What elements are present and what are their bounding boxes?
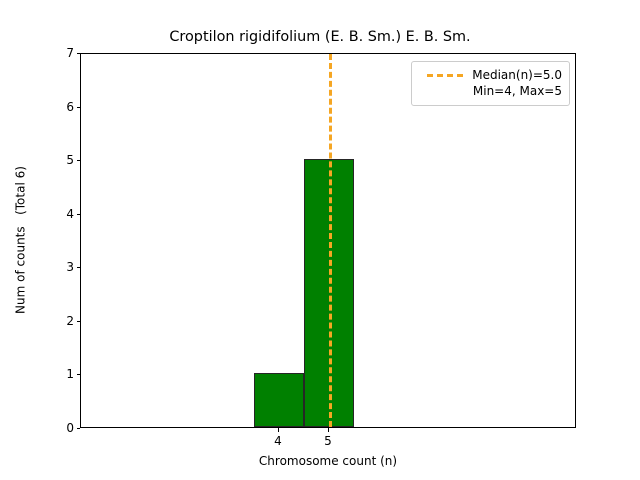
x-tick-mark-5 [328,428,329,432]
x-tick-label-4: 4 [274,434,282,448]
chart-legend: Median(n)=5.0 Min=4, Max=5 [411,61,570,106]
y-tick-label-4: 4 [66,208,74,220]
y-axis-label: Num of counts (Total 6) [14,53,28,428]
legend-entry-median: Median(n)=5.0 [419,67,562,83]
dashed-line-icon [427,74,463,77]
y-tick-label-7: 7 [66,47,74,59]
y-tick-label-1: 1 [66,368,74,380]
y-tick-label-6: 6 [66,101,74,113]
y-tick-label-2: 2 [66,315,74,327]
legend-label-median: Median(n)=5.0 [472,67,562,83]
chart-figure: Croptilon rigidifolium (E. B. Sm.) E. B.… [0,0,640,480]
y-tick-label-5: 5 [66,154,74,166]
x-tick-mark-4 [278,428,279,432]
bar-chromosome-4 [254,373,304,427]
legend-label-range: Min=4, Max=5 [473,83,562,99]
median-line [329,54,332,427]
y-tick-mark-0 [77,428,81,429]
chart-title: Croptilon rigidifolium (E. B. Sm.) E. B.… [0,29,640,45]
y-tick-label-0: 0 [66,422,74,434]
plot-area [80,53,576,428]
x-tick-label-5: 5 [324,434,332,448]
y-tick-label-3: 3 [66,261,74,273]
x-axis-label: Chromosome count (n) [80,454,576,468]
legend-entry-range: Min=4, Max=5 [419,83,562,99]
